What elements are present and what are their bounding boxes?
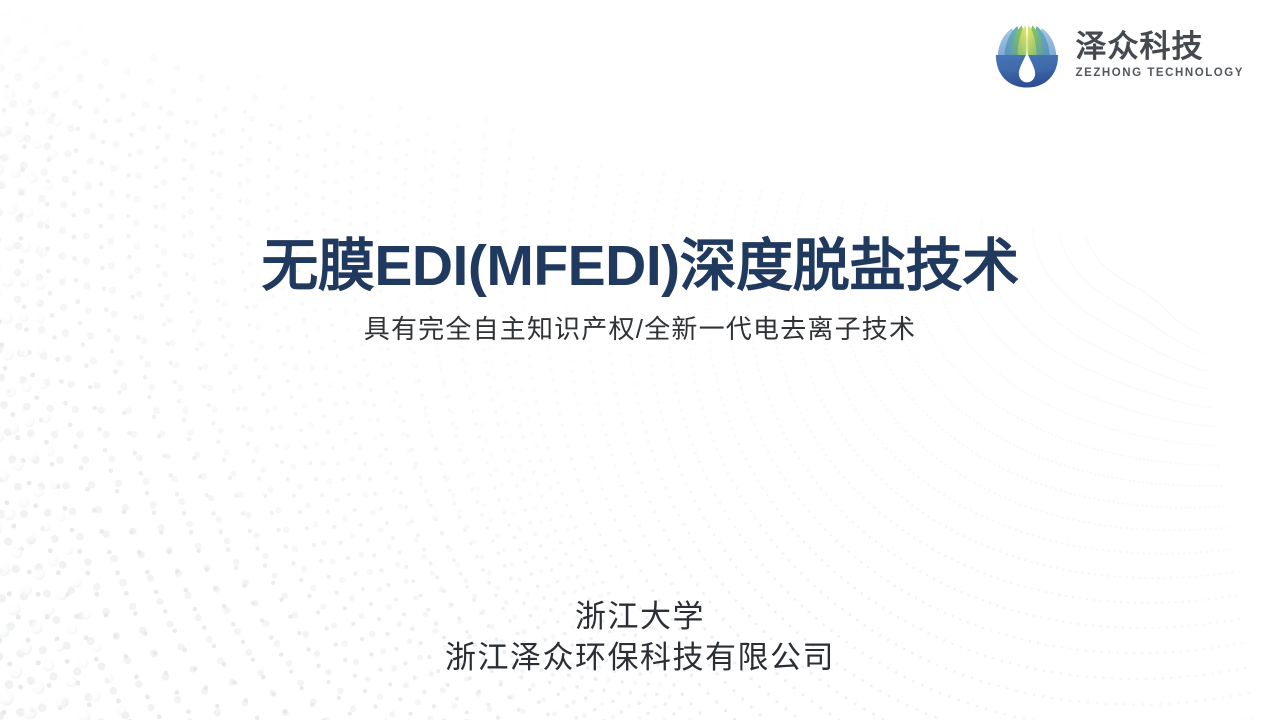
title-slide: 泽众科技 ZEZHONG TECHNOLOGY 无膜EDI(MFEDI)深度脱盐… [0, 0, 1280, 720]
brand-name-en: ZEZHONG TECHNOLOGY [1076, 67, 1244, 79]
organization-line-company: 浙江泽众环保科技有限公司 [0, 637, 1280, 678]
page-title: 无膜EDI(MFEDI)深度脱盐技术 [0, 236, 1280, 298]
brand-wordmark: 泽众科技 ZEZHONG TECHNOLOGY [1076, 31, 1244, 79]
brand-logo: 泽众科技 ZEZHONG TECHNOLOGY [990, 18, 1244, 92]
lotus-waterdrop-icon [990, 18, 1064, 92]
organization-line-university: 浙江大学 [0, 596, 1280, 637]
brand-name-cn: 泽众科技 [1076, 31, 1204, 64]
page-subtitle: 具有完全自主知识产权/全新一代电去离子技术 [0, 314, 1280, 345]
title-block: 无膜EDI(MFEDI)深度脱盐技术 具有完全自主知识产权/全新一代电去离子技术 [0, 236, 1280, 345]
organization-block: 浙江大学 浙江泽众环保科技有限公司 [0, 596, 1280, 678]
